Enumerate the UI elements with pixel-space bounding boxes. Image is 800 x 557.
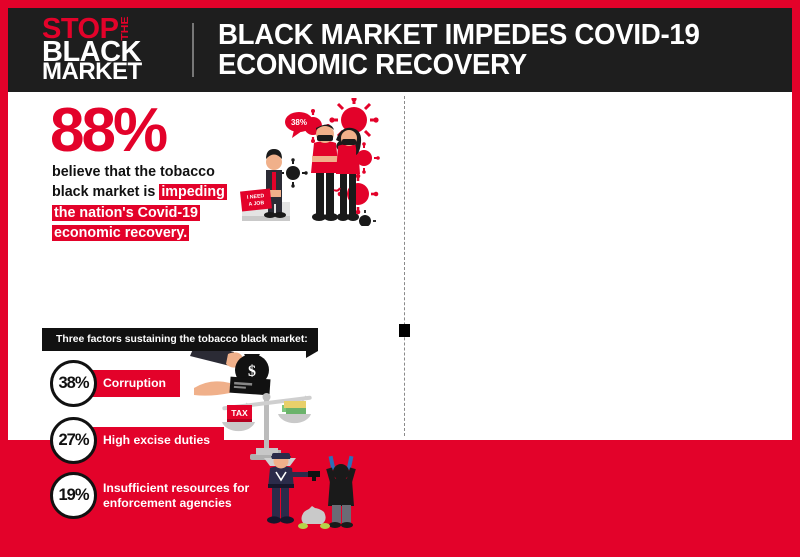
factor-1-label: Corruption bbox=[87, 370, 180, 397]
tax-tag: TAX bbox=[227, 405, 252, 422]
factor-2-percent: 27% bbox=[50, 417, 97, 464]
covid-couple-illustration: 38% bbox=[236, 98, 404, 226]
factor-row-excise-duties: 27% High excise duties bbox=[50, 417, 224, 464]
cash-stack bbox=[282, 401, 306, 414]
i-need-a-job-sign: I NEED A JOB bbox=[240, 188, 272, 211]
infographic-poster: STOP THE BLACK MARKET BLACK MARKET IMPED… bbox=[0, 0, 800, 450]
factor-3-label: Insufficient resources for enforcement a… bbox=[87, 475, 263, 517]
stat-88-description: believe that the tobacco black market is… bbox=[52, 162, 252, 243]
page-title-line-2: ECONOMIC RECOVERY bbox=[218, 50, 700, 80]
stat-88-line-2: black market is bbox=[52, 184, 155, 200]
right-panel: 97% want the Malaysian Government to tak… bbox=[408, 92, 800, 440]
poster-header: STOP THE BLACK MARKET BLACK MARKET IMPED… bbox=[8, 8, 792, 92]
logo-stop-text: STOP bbox=[42, 17, 118, 42]
three-factors-banner: Three factors sustaining the tobacco bla… bbox=[42, 328, 318, 351]
header-divider bbox=[192, 23, 194, 77]
speech-bubble-38: 38% bbox=[285, 112, 313, 138]
svg-text:TAX: TAX bbox=[231, 408, 248, 418]
masked-man-figure bbox=[311, 124, 339, 221]
logo-the-text: THE bbox=[120, 17, 131, 41]
logo-market-text: MARKET bbox=[42, 62, 172, 83]
factor-3-percent: 19% bbox=[50, 472, 97, 519]
stat-88-highlight-3: economic recovery. bbox=[52, 225, 189, 241]
factor-1-percent: 38% bbox=[50, 360, 97, 407]
criminal-hands-up-figure bbox=[326, 456, 356, 528]
factor-row-enforcement-resources: 19% Insufficient resources for enforceme… bbox=[50, 472, 263, 519]
stat-88-highlight-1: impeding bbox=[159, 184, 227, 200]
svg-text:38%: 38% bbox=[291, 118, 307, 127]
page-title-line-1: BLACK MARKET IMPEDES COVID-19 bbox=[218, 20, 700, 50]
stat-88-line-1: believe that the tobacco bbox=[52, 164, 215, 180]
unemployed-man-figure: I NEED A JOB bbox=[240, 149, 290, 221]
stat-88-highlight-2: the nation's Covid-19 bbox=[52, 205, 200, 221]
left-panel: 88% believe that the tobacco black marke… bbox=[8, 92, 404, 440]
stop-the-black-market-logo: STOP THE BLACK MARKET bbox=[42, 17, 172, 83]
svg-text:$: $ bbox=[248, 363, 256, 380]
panel-divider bbox=[404, 96, 405, 436]
factor-3-label-line-1: Insufficient resources for bbox=[103, 481, 249, 495]
contraband-bag bbox=[298, 506, 330, 529]
factor-3-label-line-2: enforcement agencies bbox=[103, 496, 232, 510]
poster-body: 88% believe that the tobacco black marke… bbox=[8, 92, 792, 440]
factor-row-corruption: 38% Corruption bbox=[50, 360, 180, 407]
stat-88-percent: 88% bbox=[50, 100, 165, 162]
enforcement-arrest-illustration bbox=[256, 450, 366, 532]
page-title: BLACK MARKET IMPEDES COVID-19 ECONOMIC R… bbox=[218, 20, 700, 80]
logo-top-row: STOP THE bbox=[42, 17, 172, 42]
